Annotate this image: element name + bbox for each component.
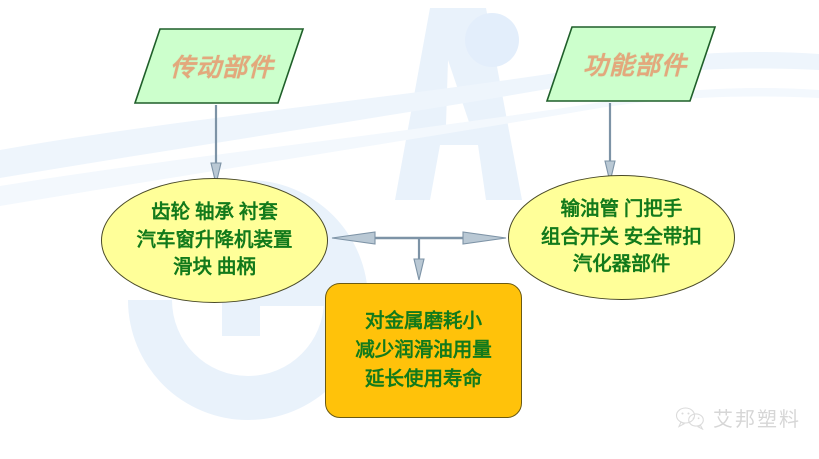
text-line: 滑块 曲柄 <box>136 254 292 282</box>
wechat-watermark-text: 艾邦塑料 <box>713 403 801 432</box>
arrow-functional-parts-to-examples <box>605 103 615 182</box>
node-functional-parts-label: 功能部件 <box>545 25 717 103</box>
double-headed-arrow-between-examples <box>332 232 506 244</box>
text-line: 汽车窗升降机装置 <box>136 227 292 255</box>
node-transmission-parts[interactable]: 传动部件 <box>133 27 305 105</box>
arrow-examples-to-benefits <box>414 239 424 280</box>
node-functional-examples[interactable]: 输油管 门把手 组合开关 安全带扣 汽化器部件 <box>508 175 735 300</box>
text-line: 齿轮 轴承 衬套 <box>136 199 292 227</box>
wechat-icon <box>675 406 705 430</box>
node-transmission-examples[interactable]: 齿轮 轴承 衬套 汽车窗升降机装置 滑块 曲柄 <box>101 178 328 303</box>
text-line: 延长使用寿命 <box>355 365 492 394</box>
node-benefits-lines: 对金属磨耗小 减少润滑油用量 延长使用寿命 <box>355 307 492 395</box>
text-line: 组合开关 安全带扣 <box>541 224 702 252</box>
node-transmission-parts-label: 传动部件 <box>133 27 305 105</box>
node-functional-examples-lines: 输油管 门把手 组合开关 安全带扣 汽化器部件 <box>541 196 702 279</box>
wechat-watermark: 艾邦塑料 <box>675 403 801 432</box>
node-functional-parts[interactable]: 功能部件 <box>545 25 717 103</box>
text-line: 汽化器部件 <box>541 251 702 279</box>
node-transmission-examples-lines: 齿轮 轴承 衬套 汽车窗升降机装置 滑块 曲柄 <box>136 199 292 282</box>
arrow-transmission-parts-to-examples <box>211 105 221 184</box>
node-benefits[interactable]: 对金属磨耗小 减少润滑油用量 延长使用寿命 <box>325 283 522 418</box>
slide-canvas: 传动部件 功能部件 齿轮 轴承 衬套 汽车窗升降机装置 滑块 曲柄 输油管 门把… <box>0 0 819 459</box>
text-line: 对金属磨耗小 <box>355 307 492 336</box>
text-line: 减少润滑油用量 <box>355 336 492 365</box>
text-line: 输油管 门把手 <box>541 196 702 224</box>
